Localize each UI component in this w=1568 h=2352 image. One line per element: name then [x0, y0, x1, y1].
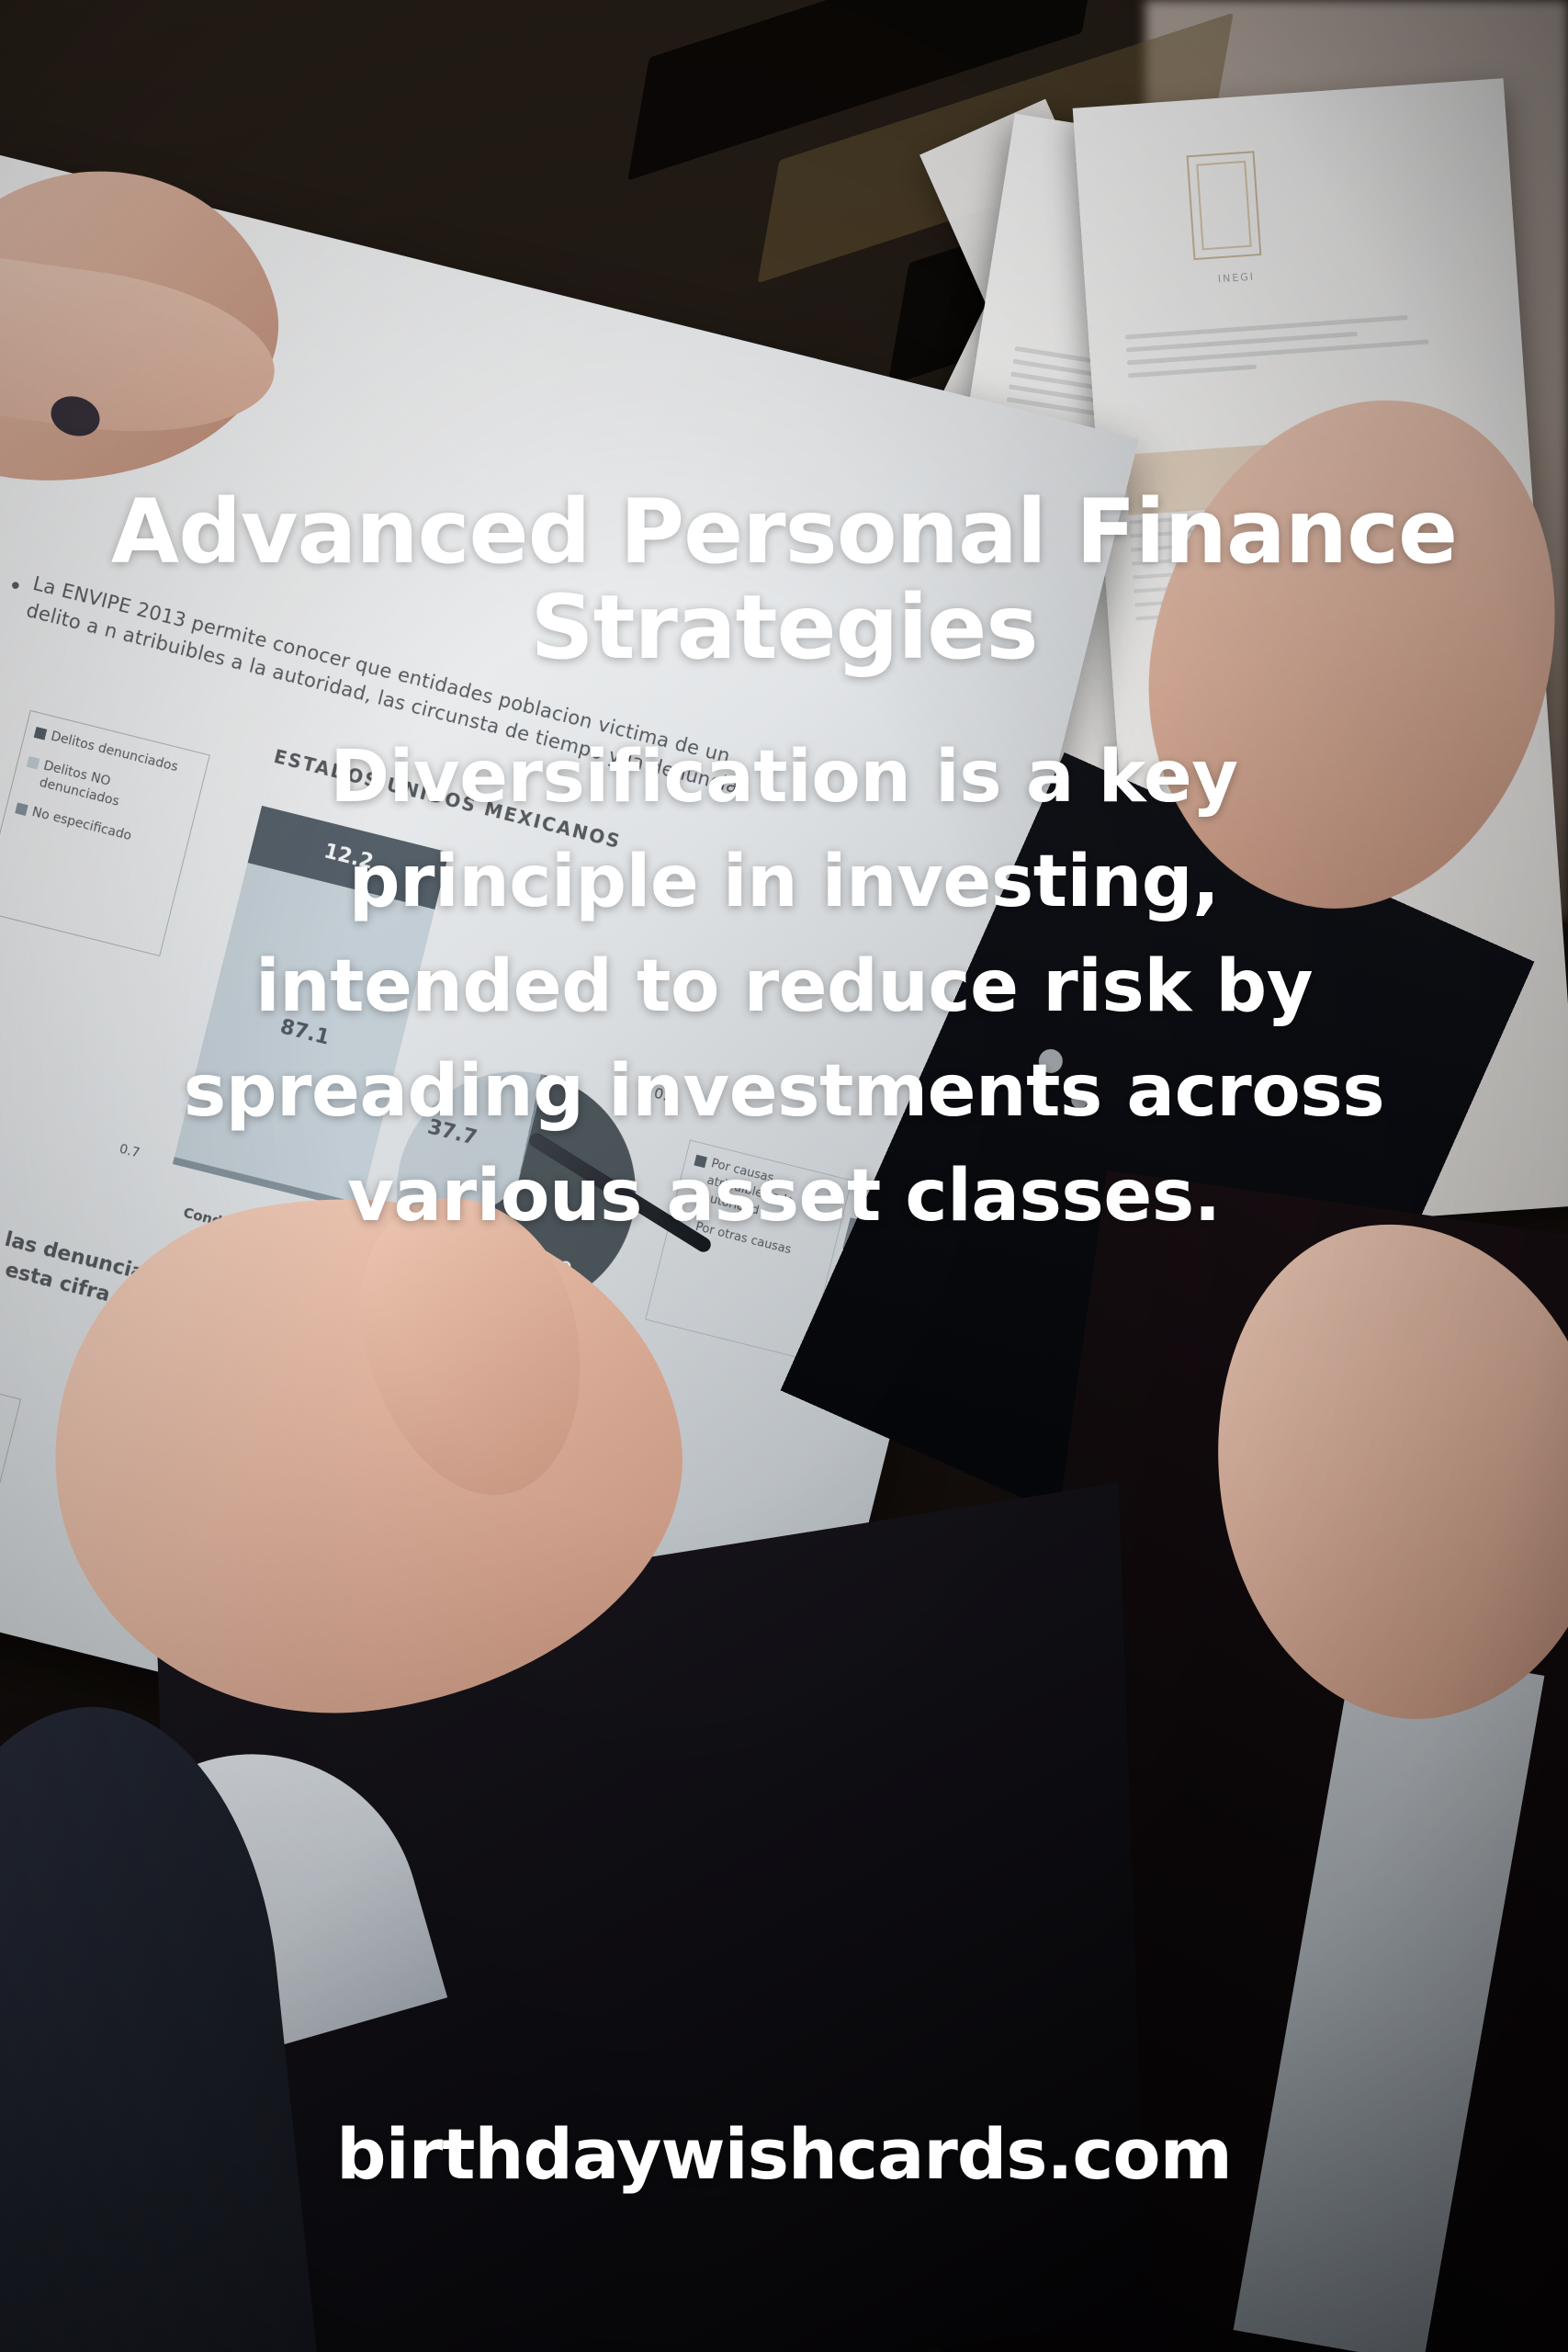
finance-quote-card: INEGI • La ENVIPE 2: [0, 0, 1568, 2352]
card-headline: Advanced Personal Finance Strategies: [105, 485, 1464, 675]
site-url-footer: birthdaywishcards.com: [141, 2113, 1427, 2195]
card-body-text: Diversification is a key principle in in…: [169, 726, 1400, 1249]
text-overlay: Advanced Personal Finance Strategies Div…: [0, 0, 1568, 2352]
